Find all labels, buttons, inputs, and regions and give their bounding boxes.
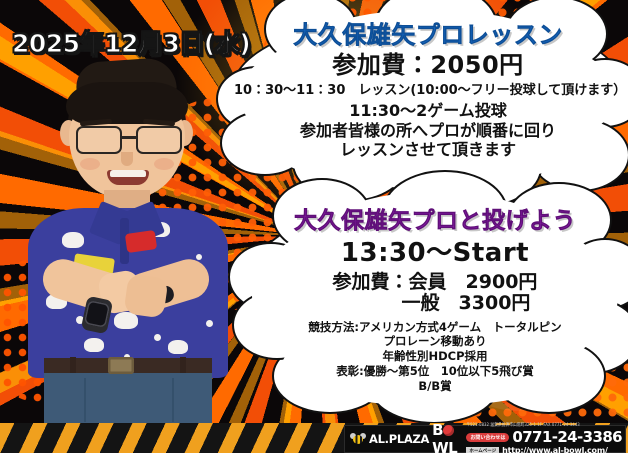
website-url[interactable]: http://www.al-bowl.com/	[502, 446, 608, 453]
footer-contact-plate: AL.PLAZA BWL 〒521-0832 滋賀県長浜市山階町325-1 1F…	[344, 425, 626, 453]
throw-rule-2: プロレーン移動あり	[248, 335, 622, 347]
logo-wl-letters: WL	[432, 439, 457, 453]
lesson-note-1: 参加者皆様の所へプロが順番に回り	[234, 122, 622, 139]
throw-award-1: 表彰:優勝〜第5位 10位以下5飛び賞	[248, 365, 622, 377]
logo-prefix: AL.PLAZA	[369, 432, 429, 446]
lesson-note-2: レッスンさせて頂きます	[234, 141, 622, 158]
throw-rule-3: 年齢性別HDCP採用	[248, 350, 622, 362]
tel-label: お問い合わせは	[466, 433, 509, 442]
contact-info: 〒521-0832 滋賀県長浜市山階町325-1 1F FAX 0771-24-…	[463, 423, 625, 453]
pro-bowler-photo	[8, 60, 242, 445]
throw-fee-general: 一般 3300円	[248, 293, 622, 314]
url-label: ホームページ	[466, 447, 499, 453]
lesson-speech-bubble: 大久保雄矢プロレッスン 参加費：2050円 10：30〜11：30 レッスン(1…	[232, 12, 624, 178]
lesson-schedule-1: 10：30〜11：30 レッスン(10:00〜フリー投球して頂けます）	[234, 84, 622, 98]
bee-mascot-icon	[350, 433, 366, 446]
tel-number[interactable]: 0771-24-3386	[512, 428, 622, 446]
lesson-schedule-2: 11:30〜2ゲーム投球	[234, 102, 622, 119]
throw-rule-1: 競技方法:アメリカン方式4ゲーム トータルピン	[248, 321, 622, 333]
footer-hazard-bar: AL.PLAZA BWL 〒521-0832 滋賀県長浜市山階町325-1 1F…	[0, 423, 628, 453]
belt-buckle	[108, 357, 134, 374]
lesson-fee: 参加費：2050円	[234, 53, 622, 79]
website-line[interactable]: ホームページ http://www.al-bowl.com/	[466, 446, 622, 453]
address-text: 〒521-0832 滋賀県長浜市山階町325-1 1F	[466, 422, 542, 427]
bowling-ball-icon	[443, 425, 454, 436]
lesson-title: 大久保雄矢プロレッスン	[234, 23, 622, 49]
logo-b-letter: B	[432, 421, 443, 439]
event-poster: 2025年12月3日(水) 大久保雄矢プロレッスン 参加費：2050円 10：3…	[0, 0, 628, 453]
throw-award-2: B/B賞	[248, 380, 622, 392]
throw-title: 大久保雄矢プロと投げよう	[248, 209, 622, 234]
event-date: 2025年12月3日(水)	[12, 24, 250, 60]
telephone-line[interactable]: お問い合わせは 0771-24-3386	[466, 428, 622, 446]
fax-text: FAX 0771-24-3443	[543, 422, 579, 427]
glasses-icon	[74, 126, 180, 150]
throw-with-pro-speech-bubble: 大久保雄矢プロと投げよう 13:30〜Start 参加費：会員 2900円 一般…	[246, 196, 624, 398]
throw-start-time: 13:30〜Start	[248, 239, 622, 267]
alplaza-bowl-logo[interactable]: AL.PLAZA BWL	[345, 421, 463, 453]
address-line: 〒521-0832 滋賀県長浜市山階町325-1 1F FAX 0771-24-…	[466, 422, 622, 429]
throw-fee-member: 参加費：会員 2900円	[248, 272, 622, 293]
logo-bowl-word: BWL	[432, 421, 463, 453]
